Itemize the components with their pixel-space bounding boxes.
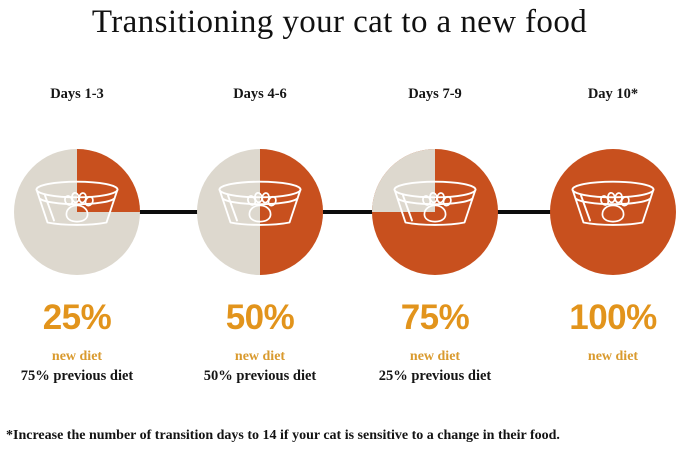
stage-previous-diet-label: 25% previous diet	[347, 368, 523, 385]
stage-previous-diet-label: 50% previous diet	[172, 368, 348, 385]
stage-day-label: Days 1-3	[0, 86, 165, 103]
stage-days-4-6: Days 4-6	[172, 0, 348, 400]
stage-day-10: Day 10*	[525, 0, 679, 400]
stage-days-7-9: Days 7-9	[347, 0, 523, 400]
stage-new-diet-label: new diet	[347, 349, 523, 365]
stage-days-1-3: Days 1-3	[0, 0, 165, 400]
stage-day-label: Day 10*	[525, 86, 679, 103]
stage-day-label: Days 4-6	[172, 86, 348, 103]
infographic-canvas: Transitioning your cat to a new food Day…	[0, 0, 679, 457]
stage-new-diet-label: new diet	[0, 349, 165, 365]
stage-day-label: Days 7-9	[347, 86, 523, 103]
stage-new-diet-label: new diet	[172, 349, 348, 365]
stage-new-diet-label: new diet	[525, 349, 679, 365]
stage-percent: 25%	[0, 298, 165, 338]
stage-previous-diet-label: 75% previous diet	[0, 368, 165, 385]
stage-percent: 50%	[172, 298, 348, 338]
food-bowl-paw-icon	[14, 149, 140, 275]
footnote: *Increase the number of transition days …	[6, 428, 674, 444]
stage-percent: 75%	[347, 298, 523, 338]
stage-percent: 100%	[525, 298, 679, 338]
transition-stage-row: Days 1-3	[0, 0, 679, 400]
food-bowl-paw-icon	[197, 149, 323, 275]
food-bowl-paw-icon	[372, 149, 498, 275]
food-bowl-paw-icon	[550, 149, 676, 275]
